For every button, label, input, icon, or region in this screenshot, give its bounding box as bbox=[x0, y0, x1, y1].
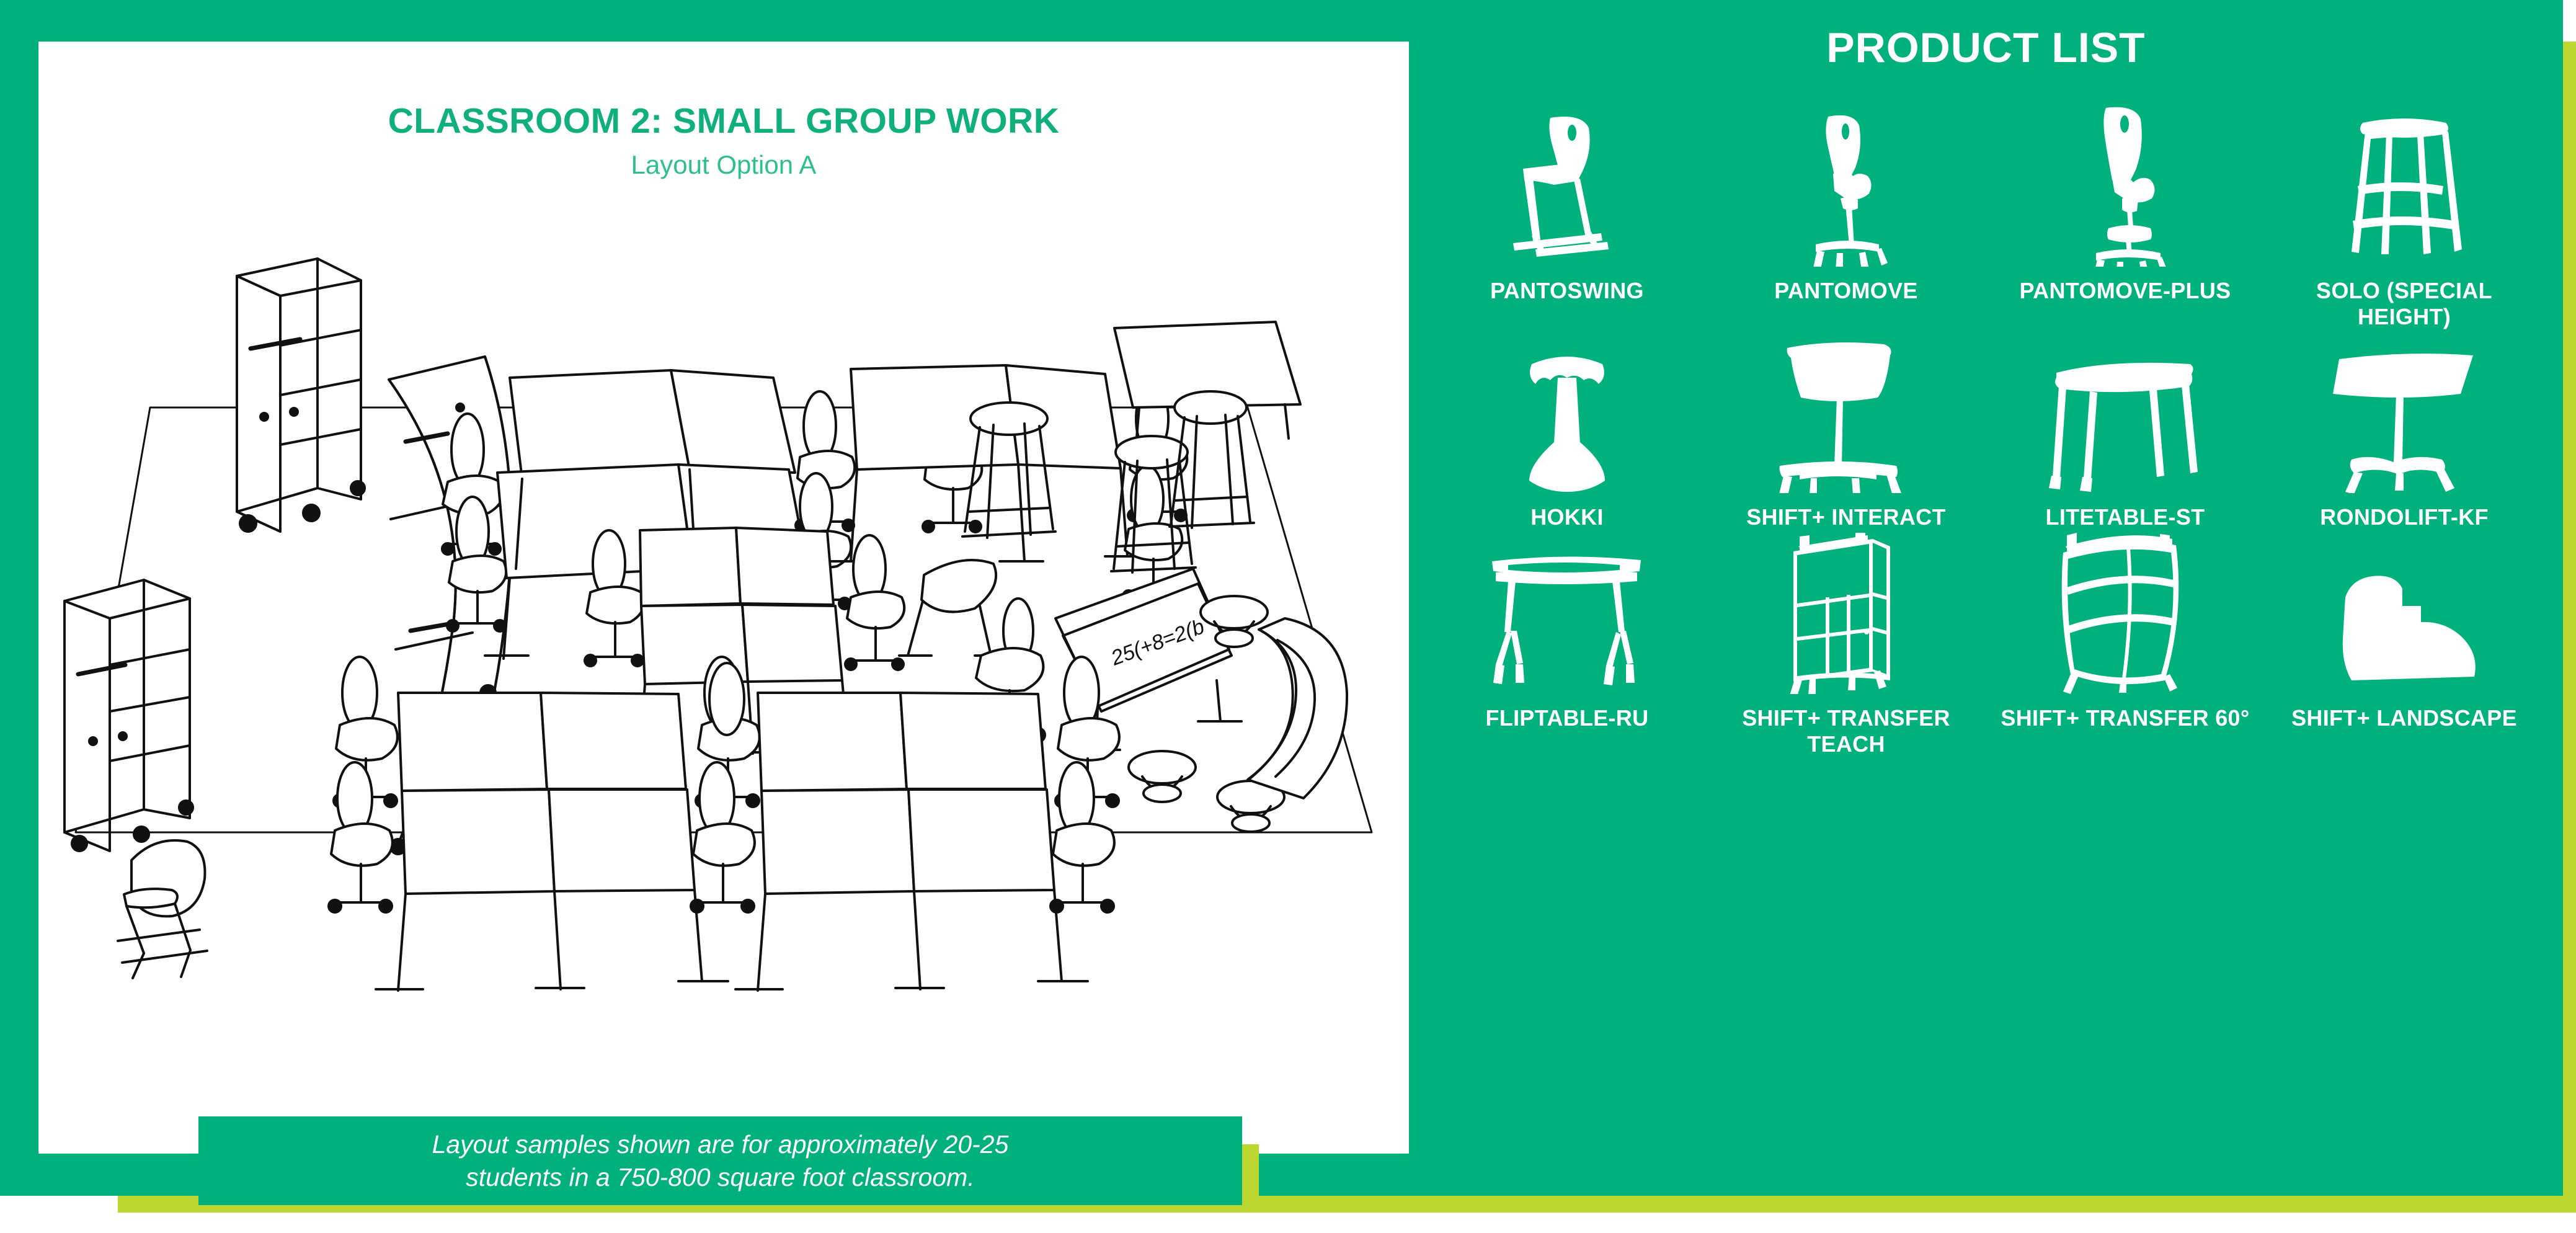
product-label: FLIPTABLE-RU bbox=[1486, 705, 1649, 732]
caption-banner: Layout samples shown are for approximate… bbox=[198, 1116, 1242, 1205]
cantilever-chair-icon bbox=[1431, 99, 1703, 267]
product-item-shift-landscape[interactable]: SHIFT+ LANDSCAPE bbox=[2265, 539, 2544, 758]
product-label: SHIFT+ LANDSCAPE bbox=[2291, 705, 2517, 732]
product-label: SOLO (SPECIAL HEIGHT) bbox=[2268, 278, 2540, 331]
product-item-pantoswing[interactable]: PANTOSWING bbox=[1428, 99, 1707, 331]
task-chair bbox=[709, 663, 744, 735]
classroom-card: CLASSROOM 2: SMALL GROUP WORK Layout Opt… bbox=[38, 42, 1409, 1154]
product-label: SHIFT+ TRANSFER TEACH bbox=[1710, 705, 1982, 758]
caption-text: Layout samples shown are for approximate… bbox=[407, 1128, 1034, 1193]
mobile-podium-icon bbox=[1710, 338, 1982, 493]
product-list-heading: PRODUCT LIST bbox=[1409, 24, 2563, 72]
product-label: RONDOLIFT-KF bbox=[2320, 504, 2489, 532]
task-chair-icon bbox=[1710, 99, 1982, 267]
product-grid: PANTOSWING bbox=[1428, 99, 2544, 758]
product-label: HOKKI bbox=[1530, 504, 1604, 532]
storage-cart-back-left bbox=[237, 259, 365, 532]
soft-seating-icon bbox=[2268, 539, 2540, 694]
product-item-pantomove[interactable]: PANTOMOVE bbox=[1707, 99, 1986, 331]
caption-line-2: students in a 750-800 square foot classr… bbox=[466, 1163, 974, 1191]
pantoswing-chair-bottom-left bbox=[118, 840, 207, 978]
product-item-shift-interact[interactable]: SHIFT+ INTERACT bbox=[1707, 338, 1986, 532]
light-table-icon bbox=[1989, 338, 2261, 493]
product-list-panel: PRODUCT LIST bbox=[1409, 0, 2563, 1196]
product-item-fliptable-ru[interactable]: FLIPTABLE-RU bbox=[1428, 539, 1707, 758]
product-item-rondolift-kf[interactable]: RONDOLIFT-KF bbox=[2265, 338, 2544, 532]
wobble-stool-icon bbox=[1431, 338, 1703, 493]
product-item-pantomove-plus[interactable]: PANTOMOVE-PLUS bbox=[1986, 99, 2265, 331]
stool-frame-icon bbox=[2268, 99, 2540, 267]
product-item-shift-transfer-60[interactable]: SHIFT+ TRANSFER 60° bbox=[1986, 539, 2265, 758]
page-root: CLASSROOM 2: SMALL GROUP WORK Layout Opt… bbox=[0, 0, 2576, 1233]
page-subtitle: Layout Option A bbox=[38, 150, 1409, 180]
product-label: PANTOMOVE-PLUS bbox=[2020, 278, 2231, 305]
product-label: PANTOMOVE bbox=[1774, 278, 1917, 305]
product-label: PANTOSWING bbox=[1490, 278, 1644, 305]
product-label: SHIFT+ INTERACT bbox=[1746, 504, 1946, 532]
product-item-shift-transfer-teach[interactable]: SHIFT+ TRANSFER TEACH bbox=[1707, 539, 1986, 758]
storage-cart-lower-left bbox=[64, 580, 193, 851]
curved-storage-cart-icon bbox=[1989, 539, 2261, 694]
accent-stripe-right bbox=[2563, 42, 2576, 1213]
product-label: LITETABLE-ST bbox=[2046, 504, 2205, 532]
product-item-solo-special-height[interactable]: SOLO (SPECIAL HEIGHT) bbox=[2265, 99, 2544, 331]
caption-line-1: Layout samples shown are for approximate… bbox=[432, 1130, 1009, 1159]
flip-table-icon bbox=[1431, 539, 1703, 694]
product-item-litetable-st[interactable]: LITETABLE-ST bbox=[1986, 338, 2265, 532]
storage-cart-icon bbox=[1710, 539, 1982, 694]
height-adjust-table-icon bbox=[2268, 338, 2540, 493]
tall-task-chair-icon bbox=[1989, 99, 2261, 267]
product-label: SHIFT+ TRANSFER 60° bbox=[2001, 705, 2249, 732]
page-title: CLASSROOM 2: SMALL GROUP WORK bbox=[38, 100, 1409, 141]
product-item-hokki[interactable]: HOKKI bbox=[1428, 338, 1707, 532]
classroom-layout-drawing: 25(+8=2(b bbox=[51, 221, 1403, 1015]
